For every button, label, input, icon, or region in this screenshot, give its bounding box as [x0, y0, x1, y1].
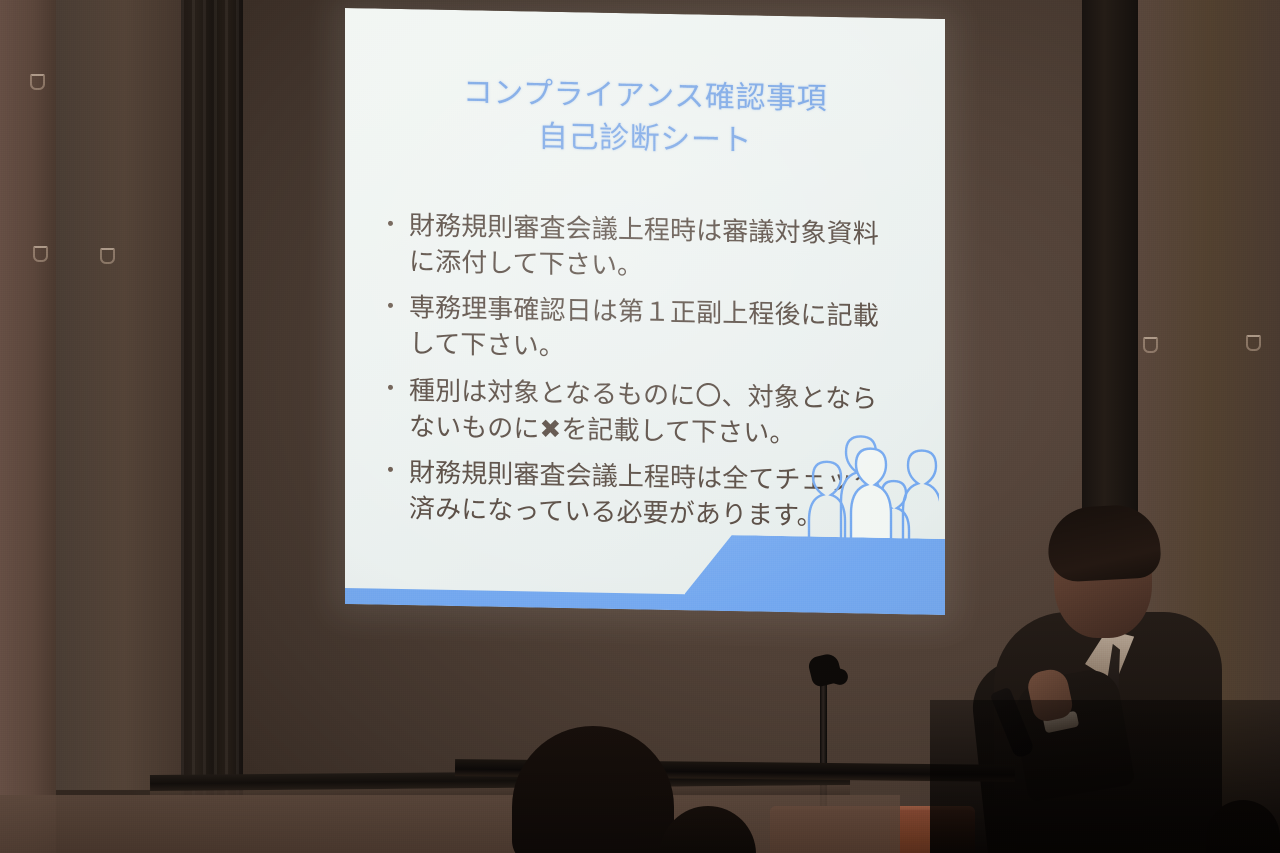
bullet-1-line-1: 財務規則審査会議上程時は審議対象資料: [409, 210, 879, 249]
foreground-shadow: [930, 700, 1280, 853]
presenter-hair: [1046, 503, 1162, 583]
bullet-4-line-2: 済みになっている必要があります。: [409, 493, 823, 531]
floor-area: [0, 795, 900, 853]
wall-hook-icon: [33, 246, 48, 262]
left-wall-panel: [0, 0, 56, 853]
bullet-2-line-2: して下さい。: [409, 329, 565, 362]
wall-hook-icon: [100, 248, 115, 264]
bullet-dot-icon: [388, 303, 393, 308]
bullet-dot-icon: [388, 220, 393, 225]
bullet-3-line-2-pre: ないものに: [409, 411, 540, 443]
band-raised: [685, 534, 945, 615]
bullet-1-line-2: に添付して下さい。: [409, 246, 643, 280]
left-curtain: [181, 0, 243, 800]
wall-hook-icon: [30, 74, 45, 90]
projection-screen: コンプライアンス確認事項 自己診断シート 財務規則審査会議上程時は審議対象資料 …: [345, 8, 945, 615]
slide-bullet-item: 財務規則審査会議上程時は審議対象資料 に添付して下さい。: [379, 207, 927, 289]
cross-mark-icon: ✖: [540, 413, 562, 443]
bullet-dot-icon: [388, 385, 393, 390]
slide-surface: コンプライアンス確認事項 自己診断シート 財務規則審査会議上程時は審議対象資料 …: [345, 8, 945, 615]
slide-bullet-item: 専務理事確認日は第１正副上程後に記載 して下さい。: [379, 289, 927, 371]
slide-footer-band: [345, 528, 945, 615]
wall-hook-icon: [1143, 337, 1158, 353]
presentation-photo-scene: コンプライアンス確認事項 自己診断シート 財務規則審査会議上程時は審議対象資料 …: [0, 0, 1280, 853]
slide-title: コンプライアンス確認事項 自己診断シート: [345, 70, 945, 166]
wall-hook-icon: [1246, 335, 1261, 351]
wall-column: [56, 0, 181, 790]
bullet-2-line-1: 専務理事確認日は第１正副上程後に記載: [409, 292, 879, 331]
bullet-dot-icon: [388, 467, 393, 472]
bullet-3-line-2-post: を記載して下さい。: [561, 414, 795, 448]
